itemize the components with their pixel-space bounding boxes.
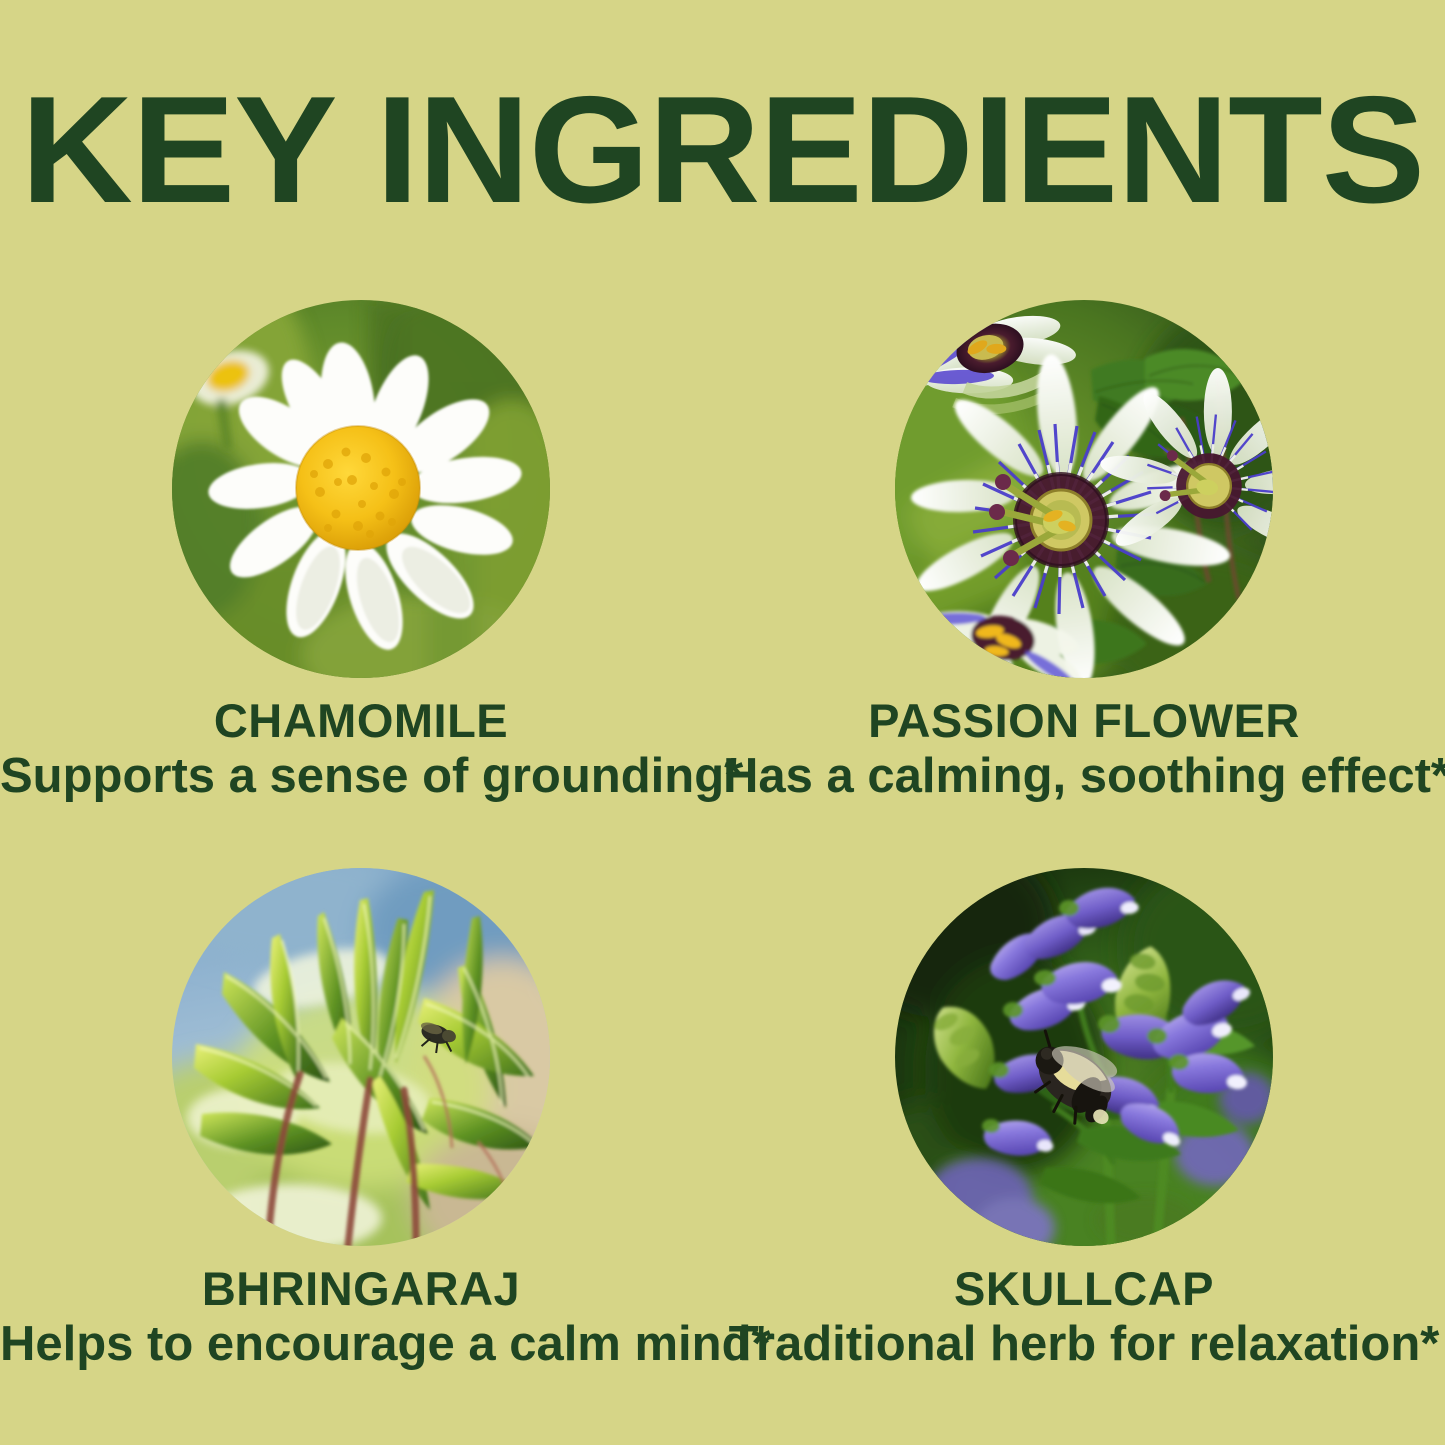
ingredient-name: PASSION FLOWER — [723, 696, 1445, 746]
passion-flower-caption: PASSION FLOWER Has a calming, soothing e… — [723, 696, 1445, 804]
ingredient-description: Supports a sense of grounding* — [0, 748, 722, 804]
ingredient-name: BHRINGARAJ — [0, 1264, 722, 1314]
ingredient-description: Has a calming, soothing effect* — [723, 748, 1445, 804]
chamomile-caption: CHAMOMILE Supports a sense of grounding* — [0, 696, 722, 804]
bhringaraj-photo — [172, 868, 550, 1246]
skullcap-photo — [895, 868, 1273, 1246]
ingredient-card-passion-flower: PASSION FLOWER Has a calming, soothing e… — [723, 282, 1445, 852]
page-title: KEY INGREDIENTS — [0, 74, 1445, 226]
ingredient-name: SKULLCAP — [723, 1264, 1445, 1314]
ingredient-name: CHAMOMILE — [0, 696, 722, 746]
ingredient-card-skullcap: SKULLCAP Traditional herb for relaxation… — [723, 850, 1445, 1420]
skullcap-photo-wrap — [895, 868, 1273, 1246]
passion-flower-photo — [895, 300, 1273, 678]
key-ingredients-infographic: KEY INGREDIENTS — [0, 0, 1445, 1445]
ingredient-description: Traditional herb for relaxation* — [723, 1316, 1445, 1372]
ingredients-grid: CHAMOMILE Supports a sense of grounding* — [0, 282, 1445, 1422]
passion-flower-photo-wrap — [895, 300, 1273, 678]
bhringaraj-photo-wrap — [172, 868, 550, 1246]
ingredient-card-chamomile: CHAMOMILE Supports a sense of grounding* — [0, 282, 722, 852]
chamomile-photo-wrap — [172, 300, 550, 678]
ingredient-description: Helps to encourage a calm mind* — [0, 1316, 722, 1372]
ingredient-card-bhringaraj: BHRINGARAJ Helps to encourage a calm min… — [0, 850, 722, 1420]
skullcap-caption: SKULLCAP Traditional herb for relaxation… — [723, 1264, 1445, 1372]
bhringaraj-caption: BHRINGARAJ Helps to encourage a calm min… — [0, 1264, 722, 1372]
chamomile-photo — [172, 300, 550, 678]
